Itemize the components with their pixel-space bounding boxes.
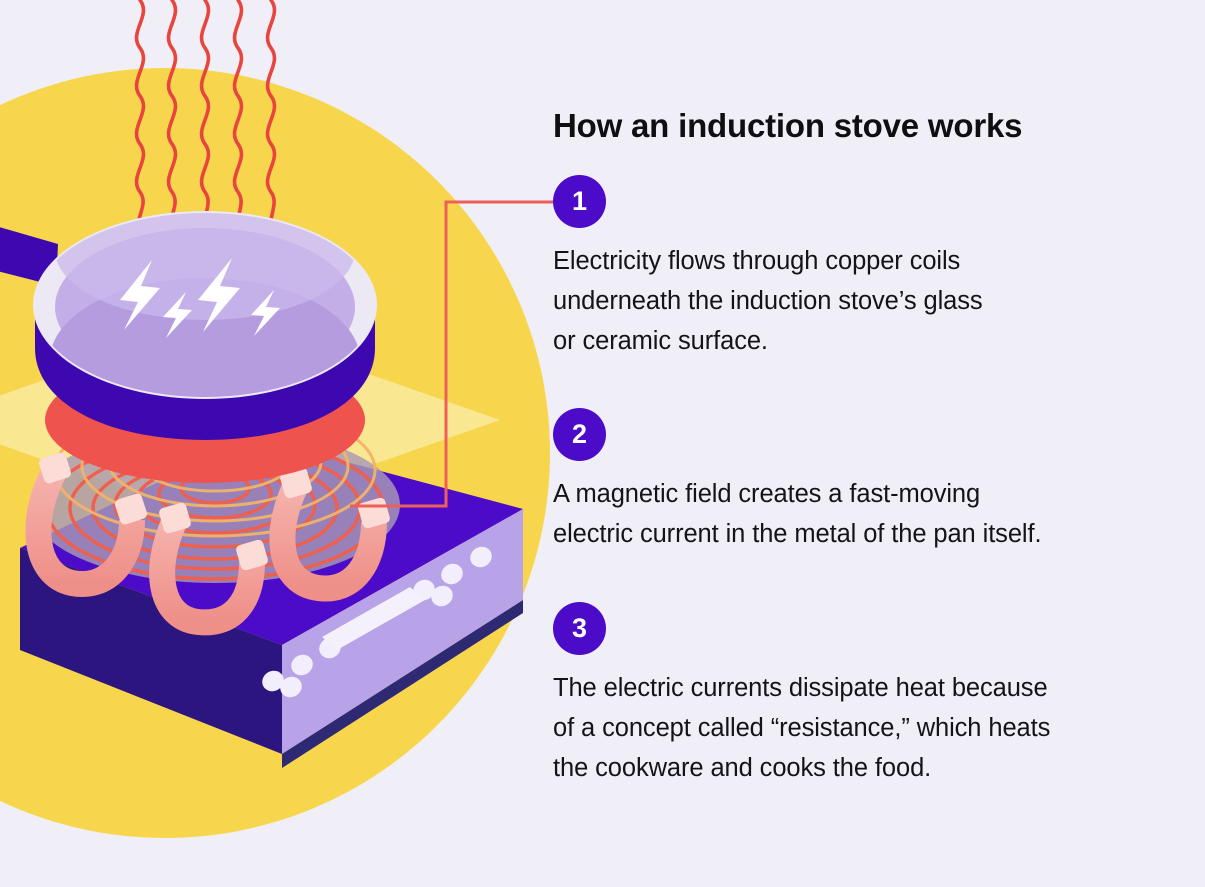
step-description-2: A magnetic field creates a fast-moving e… — [553, 474, 1173, 554]
step-badge-1: 1 — [553, 175, 606, 228]
induction-stove-illustration — [0, 0, 620, 887]
step-item-3: 3 The electric currents dissipate heat b… — [553, 602, 1173, 788]
step-badge-2: 2 — [553, 408, 606, 461]
text-panel: How an induction stove works 1 Electrici… — [553, 0, 1205, 887]
page-title: How an induction stove works — [553, 106, 1173, 146]
step-description-1: Electricity flows through copper coils u… — [553, 241, 1173, 361]
step-item-1: 1 Electricity flows through copper coils… — [553, 175, 1173, 361]
step-badge-3: 3 — [553, 602, 606, 655]
step-item-2: 2 A magnetic field creates a fast-moving… — [553, 408, 1173, 554]
infographic-root: How an induction stove works 1 Electrici… — [0, 0, 1205, 887]
step-description-3: The electric currents dissipate heat bec… — [553, 668, 1173, 788]
